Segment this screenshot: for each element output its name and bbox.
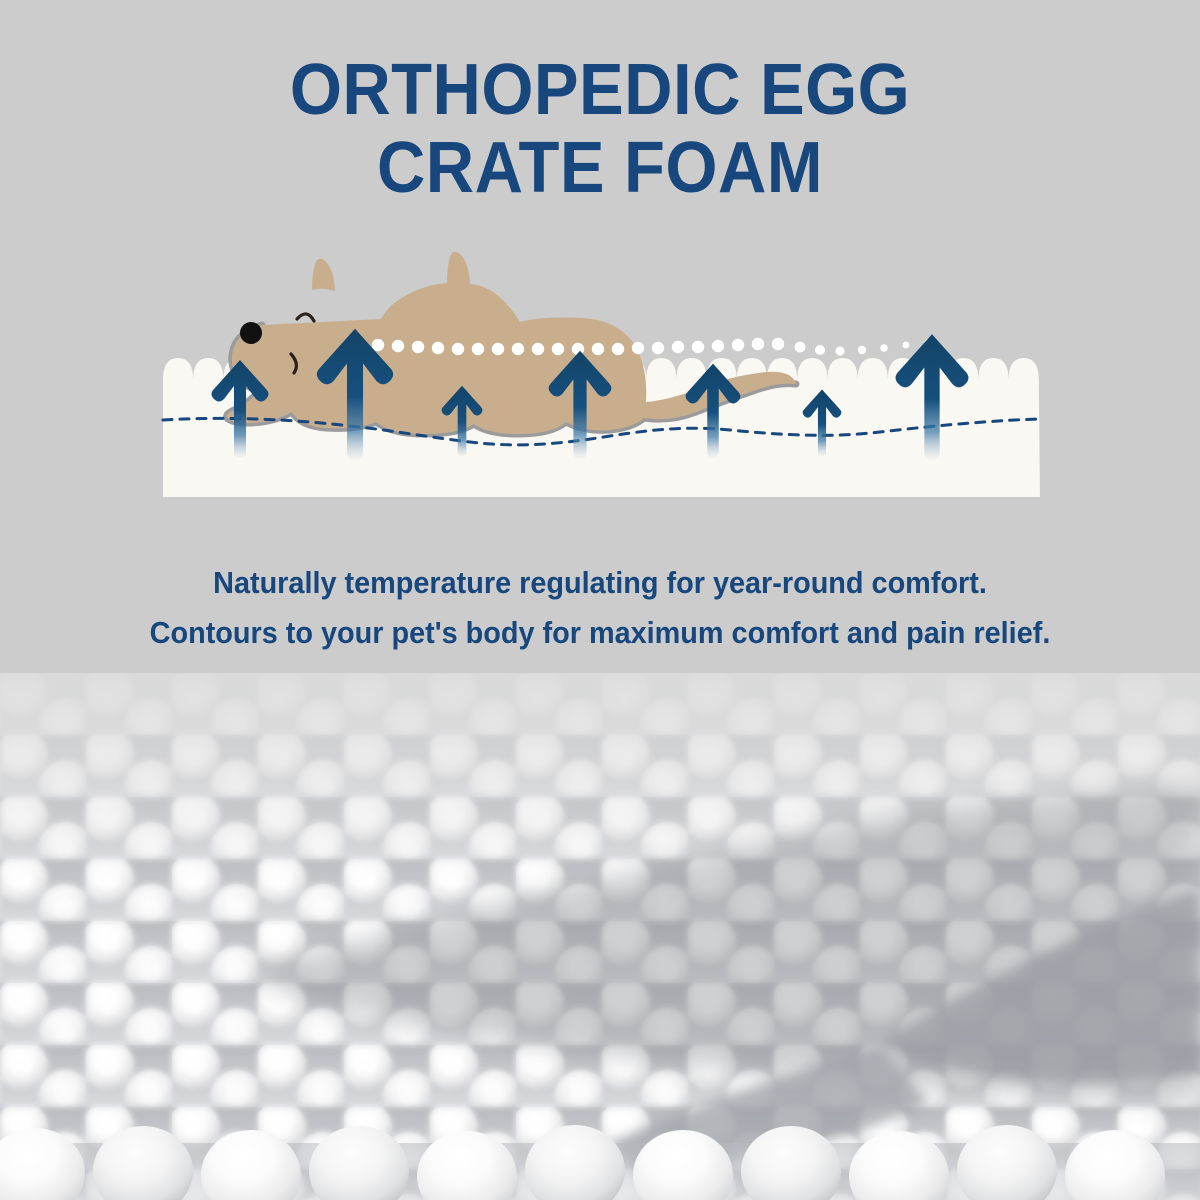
title-line-2: CRATE FOAM — [42, 130, 1158, 208]
feature-captions: Naturally temperature regulating for yea… — [0, 558, 1200, 658]
infographic-top-panel: ORTHOPEDIC EGG CRATE FOAM — [0, 0, 1200, 673]
dog-nose-icon — [240, 322, 262, 344]
dog-eye-closed-icon — [297, 314, 314, 321]
title-line-1: ORTHOPEDIC EGG — [42, 52, 1158, 130]
dog-ear — [312, 259, 335, 291]
caption-line-1: Naturally temperature regulating for yea… — [42, 558, 1158, 608]
foam-texture-photo-render — [0, 673, 1200, 1200]
marketing-infographic-page: ORTHOPEDIC EGG CRATE FOAM — [0, 0, 1200, 1200]
hand-pressing-foam-photo — [0, 673, 1200, 1200]
caption-line-2: Contours to your pet's body for maximum … — [42, 608, 1158, 658]
page-title: ORTHOPEDIC EGG CRATE FOAM — [0, 52, 1200, 208]
dog-on-foam-illustration — [0, 230, 1200, 550]
